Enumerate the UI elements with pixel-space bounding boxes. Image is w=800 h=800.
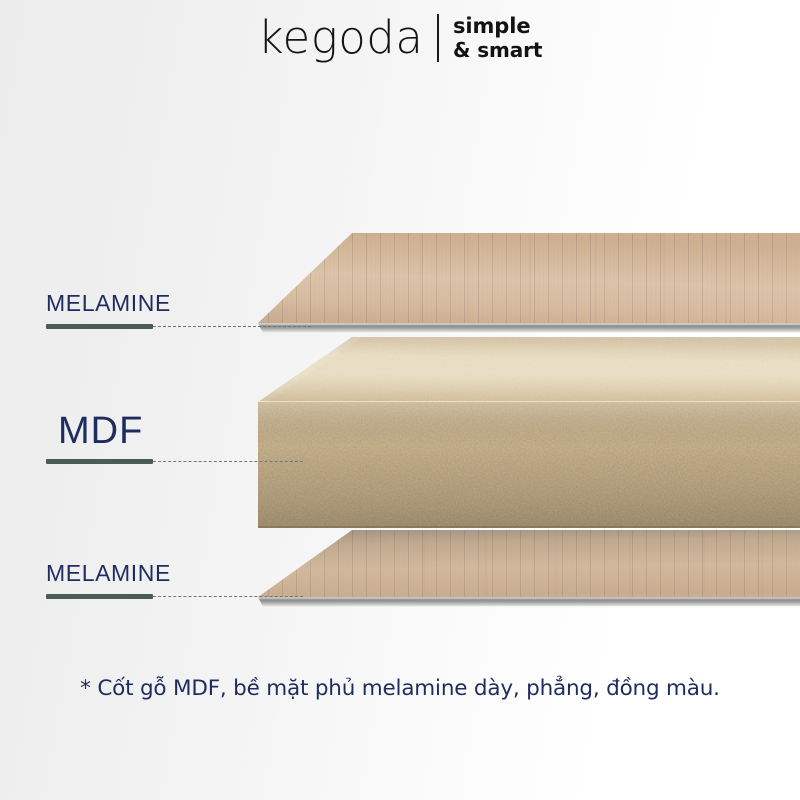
callout-mdf-label: MDF	[46, 412, 143, 450]
callout-mdf: MDF	[46, 412, 143, 464]
callout-melamine-bottom-label: MELAMINE	[46, 562, 171, 585]
callout-mdf-leader	[46, 459, 143, 464]
layer-melamine-bottom	[258, 530, 800, 606]
leader-dashed	[153, 326, 311, 327]
callout-melamine-bottom-leader	[46, 594, 171, 599]
callout-melamine-top-label: MELAMINE	[46, 292, 171, 315]
leader-dashed	[153, 596, 303, 597]
callout-melamine-bottom: MELAMINE	[46, 562, 171, 599]
product-infographic: kegoda simple & smart	[0, 0, 800, 800]
leader-solid	[46, 459, 153, 464]
layer-mdf-core	[250, 330, 800, 533]
leader-solid	[46, 324, 153, 329]
callout-melamine-top: MELAMINE	[46, 292, 171, 329]
callout-melamine-top-leader	[46, 324, 171, 329]
footnote-caption: * Cốt gỗ MDF, bề mặt phủ melamine dày, p…	[0, 676, 800, 701]
layer-melamine-top	[258, 233, 800, 332]
leader-dashed	[153, 461, 303, 462]
leader-solid	[46, 594, 153, 599]
